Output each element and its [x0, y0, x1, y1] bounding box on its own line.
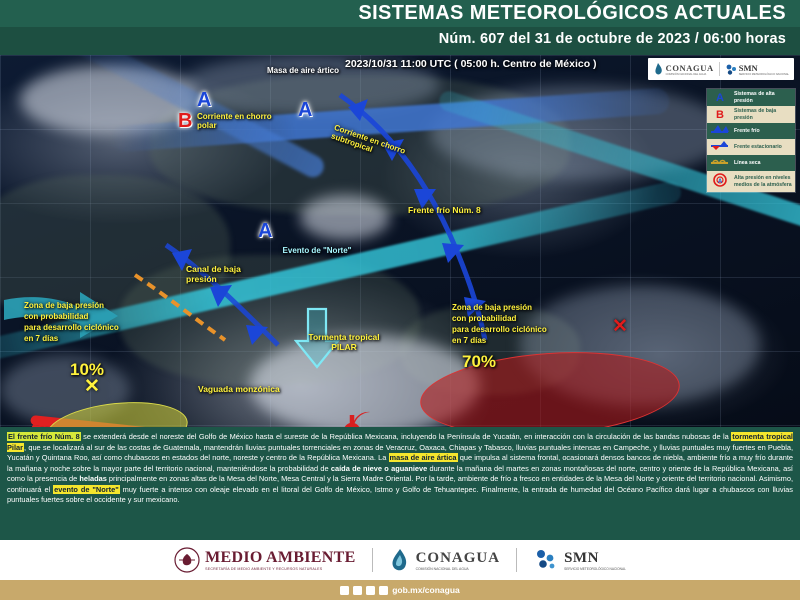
forecast-description: El frente frío Núm. 8 se extenderá desde…: [0, 427, 800, 540]
text-segment-6: muy fuerte a intenso con oleaje elevado …: [7, 485, 793, 505]
conagua-sub: COMISIÓN NACIONAL DEL AGUA: [416, 567, 501, 571]
high-pressure-marker-central: A: [298, 99, 312, 122]
svg-text:A: A: [718, 179, 723, 185]
cyclone-zone-caribbean-x-marker: ✕: [612, 317, 628, 336]
highlight-arctic-air-mass: masa de aire ártica: [389, 453, 458, 462]
header-logo-divider: [719, 62, 720, 76]
label-monsoon-trough: Vaguada monzónica: [198, 385, 280, 395]
highlight-norte-event: evento de "Norte": [53, 485, 120, 494]
medio-ambiente-logo: MEDIO AMBIENTE SECRETARÍA DE MEDIO AMBIE…: [174, 547, 355, 573]
footer-logos: MEDIO AMBIENTE SECRETARÍA DE MEDIO AMBIE…: [0, 540, 800, 580]
map-legend: A Sistemas de alta presión B Sistemas de…: [706, 88, 796, 193]
satellite-weather-map: A A A B Masa de aire ártico Corriente en…: [0, 55, 800, 427]
cyclone-zone-pacific-line4: en 7 días: [24, 335, 58, 344]
medio-ambiente-sub: SECRETARÍA DE MEDIO AMBIENTE Y RECURSOS …: [205, 567, 355, 571]
highlight-cold-front: El frente frío Núm. 8: [7, 432, 81, 441]
conagua-text: CONAGUA: [416, 550, 501, 567]
text-segment-1: se extenderá desde el noreste del Golfo …: [81, 432, 731, 441]
legend-item-stationary-front: Frente estacionario: [707, 139, 795, 155]
label-cold-front: Frente frío Núm. 8: [408, 206, 488, 216]
instagram-icon[interactable]: [366, 586, 375, 595]
high-pressure-marker-north: A: [197, 89, 211, 112]
cyclone-zone-pacific-line3: para desarrollo ciclónico: [24, 324, 119, 333]
cyclone-zone-pacific-line2: con probabilidad: [24, 313, 88, 322]
cyclone-zone-pacific-line1: Zona de baja presión: [24, 302, 104, 311]
label-tropical-storm: Tormenta tropical PILAR: [298, 333, 390, 352]
cyclone-zone-caribbean-line1: Zona de baja presión: [452, 304, 532, 313]
low-pressure-marker-west: B: [178, 110, 192, 133]
cyclone-zone-caribbean-percent: 70%: [462, 352, 496, 372]
label-polar-jet: Corriente en chorro polar: [197, 113, 287, 131]
legend-item-cold-front: Frente frío: [707, 123, 795, 139]
label-norte-event: Evento de "Norte": [280, 247, 354, 256]
footer-url[interactable]: gob.mx/conagua: [392, 585, 460, 595]
legend-item-dry-line: Línea seca: [707, 155, 795, 171]
letter-A-icon: A: [709, 92, 731, 104]
weather-bulletin-page: SISTEMAS METEOROLÓGICOS ACTUALES Núm. 60…: [0, 0, 800, 600]
smn-text: SMN: [564, 550, 626, 567]
legend-label-high-pressure-mid: Alta presión en niveles medios de la atm…: [734, 175, 793, 188]
map-timestamp: 2023/10/31 11:00 UTC ( 05:00 h. Centro d…: [345, 58, 597, 70]
legend-item-low-pressure: B Sistemas de baja presión: [707, 106, 795, 123]
label-arctic-air-mass: Masa de aire ártico: [258, 67, 348, 76]
footer-divider-1: [372, 548, 373, 572]
smn-logo: SMN SERVICIO METEOROLÓGICO NACIONAL: [533, 547, 626, 573]
legend-item-high-pressure: A Sistemas de alta presión: [707, 89, 795, 106]
footer-url-band: gob.mx/conagua: [0, 580, 800, 600]
header-logos: CONAGUA COMISIÓN NACIONAL DEL AGUA SMN S…: [648, 58, 794, 80]
conagua-logo: CONAGUA COMISIÓN NACIONAL DEL AGUA: [389, 547, 501, 573]
footer-divider-2: [516, 548, 517, 572]
highlight-frost: heladas: [79, 474, 107, 483]
legend-label-stationary-front: Frente estacionario: [734, 144, 782, 151]
legend-item-high-pressure-mid: A Alta presión en niveles medios de la a…: [707, 171, 795, 192]
letter-B-icon: B: [709, 109, 731, 121]
cyclone-zone-caribbean-line3: para desarrollo ciclónico: [452, 326, 547, 335]
dry-line-icon: [709, 157, 731, 169]
medio-ambiente-text: MEDIO AMBIENTE: [205, 549, 355, 567]
smn-swirl-icon: [533, 547, 559, 573]
header-conagua-sub: COMISIÓN NACIONAL DEL AGUA: [666, 73, 714, 76]
label-low-pressure-channel: Canal de baja presión: [186, 265, 256, 284]
bulletin-number: Núm. 607 del 31 de octubre de 2023 / 06:…: [439, 31, 786, 47]
twitter-icon[interactable]: [353, 586, 362, 595]
stationary-front-icon: [709, 141, 731, 153]
cyclone-zone-caribbean-line2: con probabilidad: [452, 315, 516, 324]
legend-label-low-pressure: Sistemas de baja presión: [734, 108, 793, 121]
conagua-logo-icon: [653, 62, 664, 76]
page-title: SISTEMAS METEOROLÓGICOS ACTUALES: [358, 2, 786, 25]
header-conagua-text: CONAGUA: [666, 63, 714, 73]
cyclone-zone-pacific-x-marker: ✕: [84, 377, 100, 396]
high-pressure-marker-east: A: [258, 220, 272, 243]
header-smn-sub: SERVICIO METEOROLÓGICO NACIONAL: [739, 73, 789, 76]
legend-label-high-pressure: Sistemas de alta presión: [734, 91, 793, 104]
facebook-icon[interactable]: [340, 586, 349, 595]
conagua-water-drop-icon: [389, 547, 411, 573]
smn-logo-icon: [725, 63, 737, 76]
header-smn-text: SMN: [739, 63, 789, 73]
legend-label-dry-line: Línea seca: [734, 160, 761, 167]
youtube-icon[interactable]: [379, 586, 388, 595]
cyclone-zone-caribbean-line4: en 7 días: [452, 337, 486, 346]
cold-front-icon: [709, 125, 731, 137]
high-pressure-mid-levels-icon: A: [709, 173, 731, 190]
tropical-storm-symbol: [330, 407, 374, 427]
highlight-snowfall: caída de nieve o aguanieve: [331, 464, 427, 473]
legend-label-cold-front: Frente frío: [734, 128, 760, 135]
smn-sub: SERVICIO METEOROLÓGICO NACIONAL: [564, 567, 626, 571]
mexico-eagle-icon: [174, 547, 200, 573]
